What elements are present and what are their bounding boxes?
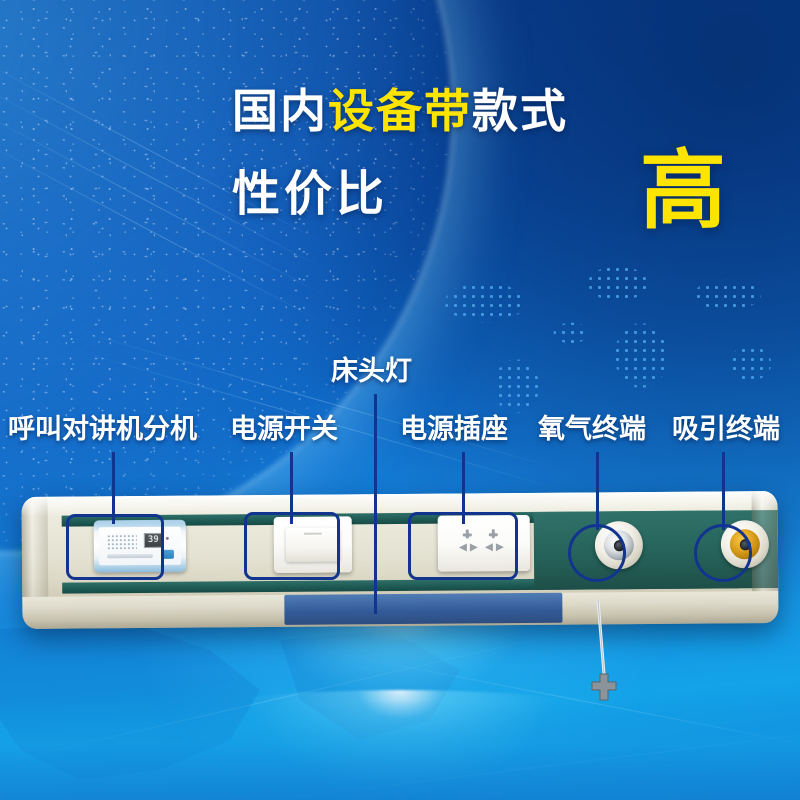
headline-line-1: 国内设备带款式 xyxy=(0,88,800,134)
callout-label-power-switch: 电源开关 xyxy=(230,416,338,443)
headline-block: 国内设备带款式 性价比 高 xyxy=(0,88,800,134)
callout-label-suction: 吸引终端 xyxy=(672,416,780,443)
callout-label-oxygen: 氧气终端 xyxy=(538,416,646,443)
headline-text-suffix: 款式 xyxy=(472,84,568,138)
promo-banner: 国内设备带款式 性价比 高 呼叫对讲机分机 电源开关 床头灯 电源插座 氧气终端… xyxy=(0,0,800,800)
headline-emphasis-character: 高 xyxy=(640,148,726,234)
callout-label-power-outlet: 电源插座 xyxy=(400,416,508,443)
callout-label-bed-lamp: 床头灯 xyxy=(331,358,412,385)
headline-text-prefix: 国内 xyxy=(232,84,328,138)
headline-text-accent: 设备带 xyxy=(328,84,472,138)
headline-value-text: 性价比 xyxy=(0,170,620,218)
callout-label-intercom: 呼叫对讲机分机 xyxy=(8,416,197,443)
